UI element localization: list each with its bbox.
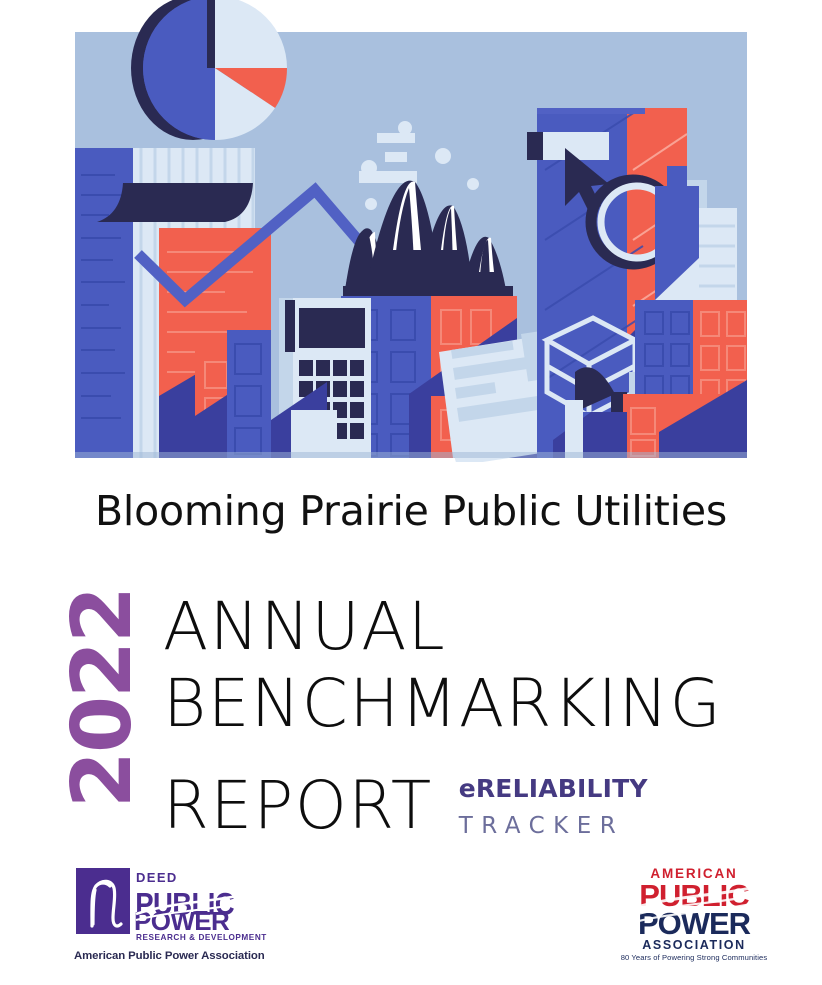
city-buildings-left xyxy=(75,148,271,458)
pie-chart xyxy=(131,0,287,140)
appa-association-word: ASSOCIATION xyxy=(642,938,745,952)
title-line-report: REPORT xyxy=(163,767,433,844)
cover-illustration xyxy=(75,0,747,462)
calculator xyxy=(271,298,371,458)
deed-tagline: RESEARCH & DEVELOPMENT xyxy=(136,933,267,942)
american-public-power-association-logo: AMERICAN PUBLIC POWER ASSOCIATION 80 Yea… xyxy=(608,862,780,962)
utility-name: Blooming Prairie Public Utilities xyxy=(0,487,822,535)
title-line-report-row: REPORT eRELIABILITY TRACKER xyxy=(163,742,763,844)
report-cover-page: Blooming Prairie Public Utilities 2022 A… xyxy=(0,0,822,985)
title-line-annual: ANNUAL xyxy=(163,588,763,665)
tracker-wordmark: TRACKER xyxy=(459,815,648,838)
report-year: 2022 xyxy=(58,580,148,815)
report-year-text: 2022 xyxy=(62,587,144,807)
report-title: ANNUAL BENCHMARKING REPORT eRELIABILITY … xyxy=(163,588,763,844)
deed-public-power-logo: DEED PUBLIC POWER RESEARCH & DEVELOPMENT… xyxy=(72,866,267,964)
deed-wordmark: DEED xyxy=(136,870,178,885)
deed-caption: American Public Power Association xyxy=(74,950,265,962)
ereliability-wordmark: eRELIABILITY xyxy=(459,774,648,803)
title-line-benchmarking: BENCHMARKING xyxy=(163,665,763,742)
appa-tagline: 80 Years of Powering Strong Communities xyxy=(621,953,768,962)
ereliability-tracker-logo: eRELIABILITY TRACKER xyxy=(459,742,648,844)
